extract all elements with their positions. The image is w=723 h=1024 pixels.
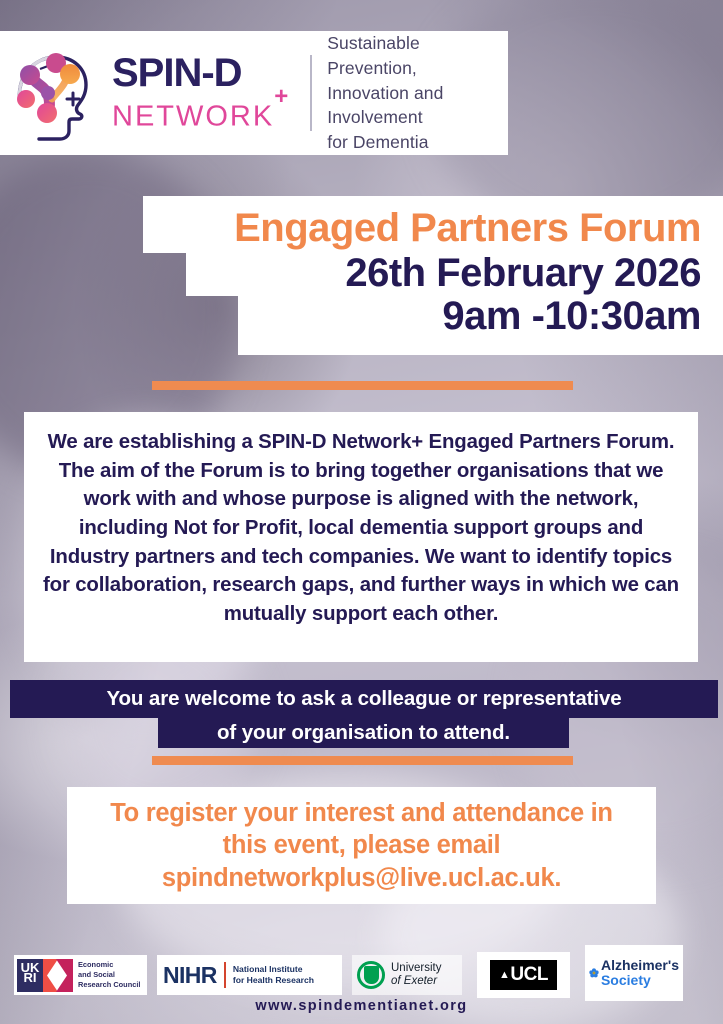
registration-text: To register your interest and attendance… — [110, 797, 612, 895]
tagline-line-2: Innovation and Involvement — [327, 81, 508, 131]
event-date: 26th February 2026 — [212, 253, 701, 294]
brand-wordmark: SPIN-D NETWORK+ — [112, 53, 290, 134]
esrc-name: Economic and Social Research Council — [78, 960, 140, 989]
divider-rule-bottom — [152, 756, 573, 765]
alzheimers-line-1: Alzheimer's — [601, 958, 679, 972]
website-url[interactable]: www.spindementianet.org — [0, 998, 723, 1014]
logo-alzheimers-society: Alzheimer's Society — [585, 945, 683, 1001]
tagline-line-3: for Dementia — [327, 130, 508, 155]
registration-email[interactable]: spindnetworkplus@live.ucl.ac.uk. — [110, 862, 612, 895]
alzheimers-name: Alzheimer's Society — [601, 958, 679, 987]
ucl-mark-icon: ▲ — [499, 969, 509, 981]
ucl-acronym: UCL — [510, 964, 548, 986]
event-poster: SPIN-D NETWORK+ Sustainable Prevention, … — [0, 0, 723, 1024]
nihr-name: National Institute for Health Research — [233, 964, 314, 986]
description-text: We are establishing a SPIN-D Network+ En… — [38, 428, 684, 629]
nihr-line-1: National Institute — [233, 964, 314, 975]
brand-tagline: Sustainable Prevention, Innovation and I… — [327, 31, 508, 155]
logo-university-of-exeter: University of Exeter — [352, 955, 462, 995]
ukri-badge: UKRI — [17, 959, 43, 992]
logo-ucl: ▲ UCL — [477, 952, 570, 998]
nihr-line-2: for Health Research — [233, 975, 314, 986]
esrc-line-3: Research Council — [78, 980, 140, 990]
tagline-line-1: Sustainable Prevention, — [327, 31, 508, 81]
exeter-line-1: University — [391, 962, 441, 975]
title-row-3: 9am -10:30am — [238, 296, 723, 354]
nihr-divider — [224, 962, 226, 988]
nihr-acronym: NIHR — [163, 962, 217, 989]
brand-divider — [310, 55, 312, 131]
brand-name-primary: SPIN-D — [112, 53, 290, 93]
description-panel: We are establishing a SPIN-D Network+ En… — [24, 412, 698, 662]
exeter-name: University of Exeter — [391, 962, 441, 988]
title-row-2: 26th February 2026 — [186, 253, 723, 296]
brand-network-text: NETWORK — [112, 100, 274, 132]
invitation-banner-line-2: of your organisation to attend. — [158, 718, 569, 748]
registration-panel: To register your interest and attendance… — [67, 787, 656, 904]
ukri-chevron-icon — [43, 959, 73, 992]
invitation-text-1: You are welcome to ask a colleague or re… — [106, 687, 621, 711]
ucl-block: ▲ UCL — [490, 960, 557, 990]
spind-network-head-icon — [6, 41, 110, 145]
invitation-text-2: of your organisation to attend. — [217, 721, 510, 745]
brand-plus: + — [274, 83, 290, 110]
title-row-1: Engaged Partners Forum — [143, 196, 723, 253]
logo-ukri-esrc: UKRI Economic and Social Research Counci… — [14, 955, 147, 995]
esrc-line-1: Economic — [78, 960, 140, 970]
divider-rule-top — [152, 381, 573, 390]
registration-line-1: To register your interest and attendance… — [110, 797, 612, 830]
alzheimers-line-2: Society — [601, 973, 679, 988]
page-title: Engaged Partners Forum — [169, 208, 701, 249]
registration-line-2: this event, please email — [110, 829, 612, 862]
invitation-banner-line-1: You are welcome to ask a colleague or re… — [10, 680, 718, 718]
exeter-crest-icon — [357, 961, 385, 989]
exeter-line-2: of Exeter — [391, 975, 437, 987]
brand-header: SPIN-D NETWORK+ Sustainable Prevention, … — [0, 31, 508, 155]
forget-me-not-flower-icon — [589, 958, 599, 988]
logo-nihr: NIHR National Institute for Health Resea… — [157, 955, 342, 995]
event-time: 9am -10:30am — [264, 296, 701, 337]
brand-name-secondary: NETWORK+ — [112, 94, 290, 134]
event-title-block: Engaged Partners Forum 26th February 202… — [0, 196, 723, 355]
partner-logos: UKRI Economic and Social Research Counci… — [0, 948, 723, 1002]
esrc-line-2: and Social — [78, 970, 140, 980]
